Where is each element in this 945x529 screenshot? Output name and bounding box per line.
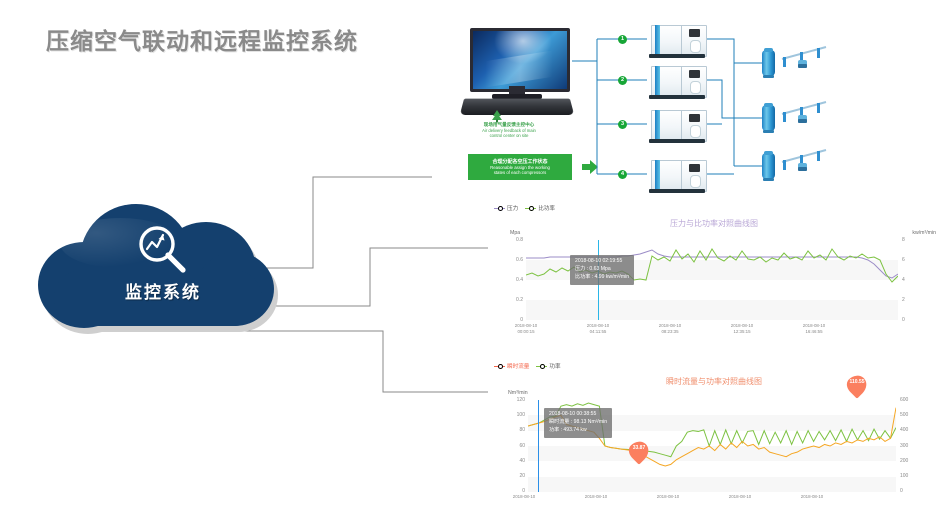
chart1-xtick-0-time: 00:00:15 — [503, 329, 549, 335]
compressor-badge-3: 3 — [618, 120, 627, 129]
legend-marker-icon — [494, 363, 505, 369]
chart1-ytick-right-2: 4 — [902, 277, 916, 283]
chart2-tooltip-line1: 瞬时流量 : 98.13 Nm³/min — [549, 419, 607, 427]
chart2-ytick-right-3: 300 — [900, 443, 920, 449]
compressor-badge-2: 2 — [618, 76, 627, 85]
storage-tank-3 — [762, 151, 775, 181]
chart2-xtick-3-date: 2018-08-10 — [717, 494, 763, 500]
pipeline-group-2 — [780, 96, 832, 130]
chart1-xtick-0: 2018-08-10 00:00:15 — [503, 323, 549, 334]
chart1-tooltip-line2: 比功率 : 4.99 kw/m³/min — [575, 274, 629, 282]
chart2-xtick-0-date: 2018-08-10 — [501, 494, 547, 500]
compressor-badge-4: 4 — [618, 170, 627, 179]
chart1-ytick-right-0: 8 — [902, 237, 916, 243]
chart1-xtick-4: 2018-08-10 16:46:55 — [791, 323, 837, 334]
chart1-ytick-right-1: 6 — [902, 257, 916, 263]
chart1-xtick-4-time: 16:46:55 — [791, 329, 837, 335]
chart2-marker-high[interactable]: 110.55 — [846, 374, 868, 396]
air-compressor-3[interactable] — [647, 107, 705, 143]
chart2-ytick-5: 20 — [500, 473, 525, 479]
cloud-body: 监控系统 — [38, 196, 288, 328]
chart1-ytick-1: 0.6 — [498, 257, 523, 263]
pressure-vs-specific-power-chart[interactable]: 压力 比功率 压力与比功率对照曲线图 Mpa kw/m³/min 0.8 0.6… — [488, 204, 940, 334]
chart2-legend-item-0[interactable]: 瞬时流量 — [494, 362, 529, 370]
chart1-y-unit: Mpa — [510, 230, 520, 236]
chart2-tooltip: 2018-08-10 00:38:55 瞬时流量 : 98.13 Nm³/min… — [544, 408, 612, 438]
chart2-xtick-1-date: 2018-08-10 — [573, 494, 619, 500]
chart2-xtick-2: 2018-08-10 — [645, 494, 691, 500]
chart2-ytick-2: 80 — [500, 427, 525, 433]
system-diagram-panel: 现场用气量反馈主控中心 Air delivery feedback of mai… — [432, 14, 940, 204]
chart2-ytick-right-4: 200 — [900, 458, 920, 464]
monitoring-cloud[interactable]: 监控系统 — [38, 196, 288, 331]
chart2-tooltip-line2: 功率 : 493.74 kw — [549, 427, 607, 435]
chart1-legend-label-1: 比功率 — [538, 204, 555, 212]
chart2-xtick-4-date: 2018-08-10 — [789, 494, 835, 500]
chart1-title: 压力与比功率对照曲线图 — [488, 218, 940, 229]
chart1-ytick-3: 0.2 — [498, 297, 523, 303]
compressor-badge-1: 1 — [618, 35, 627, 44]
chart2-xtick-2-date: 2018-08-10 — [645, 494, 691, 500]
chart1-ytick-right-4: 0 — [902, 317, 916, 323]
legend-marker-icon — [525, 205, 536, 211]
chart2-title: 瞬时流量与功率对照曲线图 — [488, 376, 940, 387]
chart2-legend[interactable]: 瞬时流量 功率 — [494, 362, 561, 370]
chart1-ytick-2: 0.4 — [498, 277, 523, 283]
chart2-xtick-4: 2018-08-10 — [789, 494, 835, 500]
chart1-legend-label-0: 压力 — [507, 204, 518, 212]
chart2-ytick-right-5: 100 — [900, 473, 920, 479]
chart2-y-unit: Nm³/min — [508, 390, 528, 396]
chart2-legend-item-1[interactable]: 功率 — [536, 362, 560, 370]
chart2-ytick-right-0: 600 — [900, 397, 920, 403]
chart1-xtick-1: 2018-08-10 04:11:55 — [575, 323, 621, 334]
air-compressor-4[interactable] — [647, 157, 705, 193]
legend-marker-icon — [494, 205, 505, 211]
chart2-xtick-0: 2018-08-10 — [501, 494, 547, 500]
chart2-xtick-1: 2018-08-10 — [573, 494, 619, 500]
page-title: 压缩空气联动和远程监控系统 — [46, 22, 358, 56]
chart2-ytick-right-1: 500 — [900, 412, 920, 418]
chart2-marker-low[interactable]: 33.87 — [628, 440, 650, 462]
chart1-tooltip-line1: 压力 : 0.63 Mpa — [575, 266, 629, 274]
chart2-legend-label-1: 功率 — [549, 362, 560, 370]
chart2-marker-high-label: 110.55 — [846, 379, 868, 385]
cloud-label: 监控系统 — [38, 278, 288, 303]
legend-marker-icon — [536, 363, 547, 369]
chart1-legend-item-1[interactable]: 比功率 — [525, 204, 555, 212]
chart2-ytick-1: 100 — [500, 412, 525, 418]
pipeline-group-1 — [780, 41, 832, 75]
chart2-xtick-3: 2018-08-10 — [717, 494, 763, 500]
chart1-xtick-3-time: 12:35:15 — [719, 329, 765, 335]
chart2-ytick-4: 40 — [500, 458, 525, 464]
chart2-marker-low-label: 33.87 — [628, 445, 650, 451]
instant-flow-vs-power-chart[interactable]: 瞬时流量 功率 瞬时流量与功率对照曲线图 Nm³/min 120 100 80 … — [488, 362, 940, 522]
chart1-legend-item-0[interactable]: 压力 — [494, 204, 518, 212]
air-compressor-1[interactable] — [647, 22, 705, 58]
chart2-ytick-right-6: 0 — [900, 488, 920, 494]
chart1-xtick-3: 2018-08-10 12:35:15 — [719, 323, 765, 334]
chart-magnifier-icon — [133, 224, 191, 276]
pipeline-group-3 — [780, 144, 832, 178]
chart1-tooltip: 2018-08-10 02:19:55 压力 : 0.63 Mpa 比功率 : … — [570, 255, 634, 285]
chart1-legend[interactable]: 压力 比功率 — [494, 204, 555, 212]
chart2-ytick-0: 120 — [500, 397, 525, 403]
chart1-ytick-right-3: 2 — [902, 297, 916, 303]
chart1-y-unit-right: kw/m³/min — [912, 230, 936, 236]
chart1-tooltip-timestamp: 2018-08-10 02:19:55 — [575, 258, 629, 266]
storage-tank-1 — [762, 48, 775, 78]
chart2-ytick-right-2: 400 — [900, 427, 920, 433]
air-compressor-2[interactable] — [647, 63, 705, 99]
chart1-xtick-1-time: 04:11:55 — [575, 329, 621, 335]
chart2-ytick-3: 60 — [500, 443, 525, 449]
chart2-cursor-line — [538, 400, 539, 492]
chart1-xtick-2-time: 08:23:35 — [647, 329, 693, 335]
chart1-ytick-0: 0.8 — [498, 237, 523, 243]
chart2-legend-label-0: 瞬时流量 — [507, 362, 529, 370]
slide-canvas: 压缩空气联动和远程监控系统 监控系统 — [0, 0, 945, 529]
storage-tank-2 — [762, 103, 775, 133]
chart2-tooltip-timestamp: 2018-08-10 00:38:55 — [549, 411, 607, 419]
chart1-xtick-2: 2018-08-10 08:23:35 — [647, 323, 693, 334]
